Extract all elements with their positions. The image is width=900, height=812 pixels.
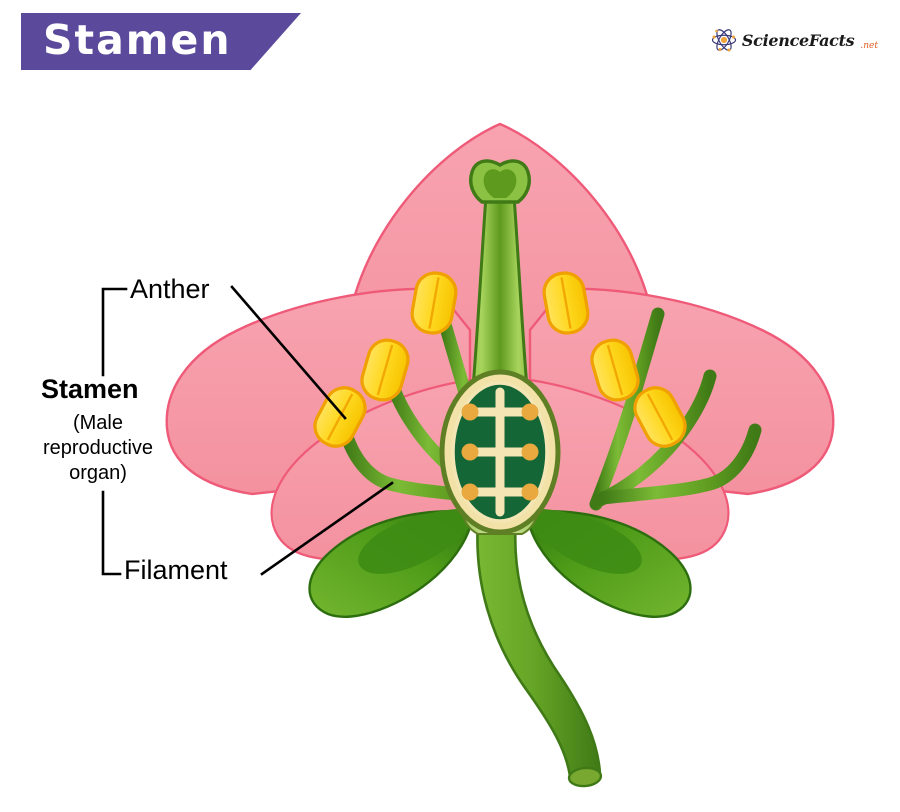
label-stamen-note: (Male reproductive organ) (24, 411, 172, 486)
bracket-top-arm (103, 289, 126, 375)
label-stamen: Stamen (41, 374, 139, 405)
ovule (462, 444, 479, 461)
ovule (522, 404, 539, 421)
ovule (522, 484, 539, 501)
ovule-group (462, 392, 539, 512)
ovule (522, 444, 539, 461)
bracket-bottom-arm (103, 492, 120, 574)
stamen-diagram (0, 0, 900, 812)
ovule (462, 484, 479, 501)
label-filament: Filament (124, 555, 228, 586)
label-anther: Anther (130, 274, 210, 305)
ovule (462, 404, 479, 421)
